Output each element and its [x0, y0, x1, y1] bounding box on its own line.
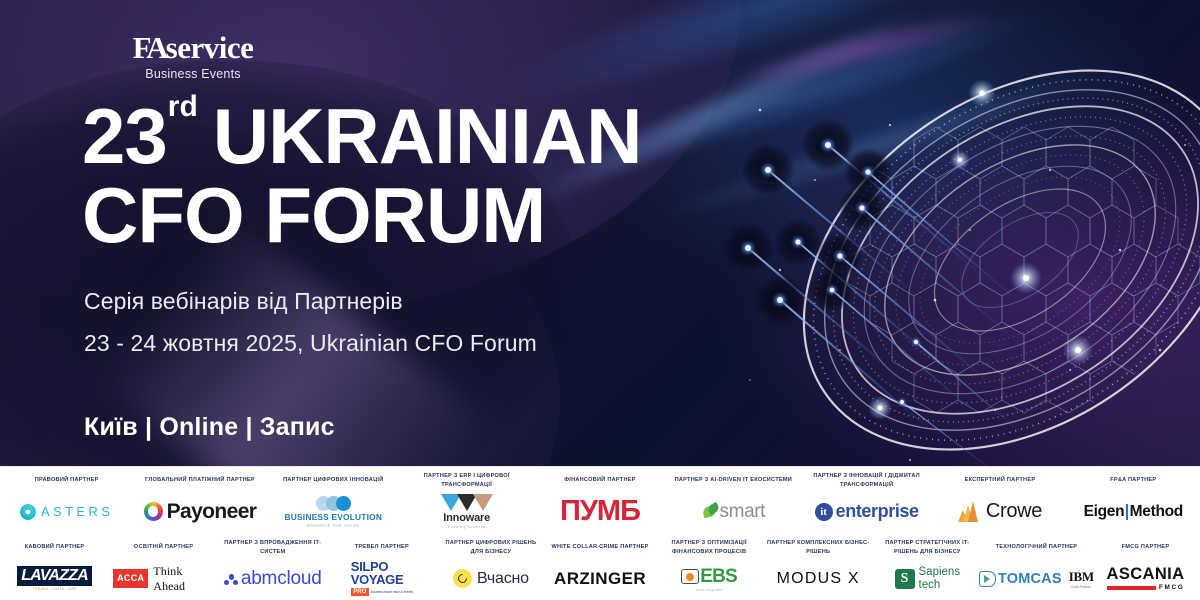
sapiens-s-icon: S: [895, 569, 915, 589]
hero-title-line1: 23rdUKRAINIAN: [82, 98, 641, 174]
payoneer-logo: Payoneer: [133, 489, 266, 534]
partners-section: ПРАВОВИЙ ПАРТНЕР ASTERS ГЛОБАЛЬНИЙ ПЛАТІ…: [0, 466, 1200, 600]
ascania-wordmark: ASCANIA: [1107, 566, 1185, 583]
partner-tomcas-ibm[interactable]: ТЕХНОЛОГІЧНИЙ ПАРТНЕР TOMCAS IBM Gold Pa…: [982, 534, 1091, 600]
partner-lavazza[interactable]: КАВОВИЙ ПАРТНЕР LAVAZZA TORINO, ITALIA, …: [0, 534, 109, 600]
partner-payoneer[interactable]: ГЛОБАЛЬНИЙ ПЛАТІЖНИЙ ПАРТНЕР Payoneer: [133, 467, 266, 534]
innoware-wordmark: Innoware: [443, 512, 490, 524]
partner-vchasno[interactable]: ПАРТНЕР ЦИФРОВИХ РІШЕНЬ ДЛЯ БІЗНЕСУ Вчас…: [436, 534, 545, 600]
partner-label: ФІНАНСОВИЙ ПАРТНЕР: [562, 472, 637, 489]
arzinger-wordmark: ARZINGER: [554, 569, 646, 589]
vchasno-wordmark: Вчасно: [477, 570, 529, 588]
hero-dateline: 23 - 24 жовтня 2025, Ukrainian CFO Forum: [84, 330, 537, 357]
partner-label: КАВОВИЙ ПАРТНЕР: [23, 539, 87, 556]
smart-leaf-icon: [702, 504, 719, 519]
partner-label: ПАРТНЕР З AI-DRIVEN IT ЕКОСИСТЕМИ: [673, 472, 794, 489]
partner-abmcloud[interactable]: ПАРТНЕР З ВПРОВАДЖЕННЯ ІТ-СИСТЕМ abmclou…: [218, 534, 327, 600]
tomcas-wordmark: TOMCAS: [998, 571, 1062, 587]
modus-x-logo: MODUS X: [764, 556, 873, 600]
sapiens-wordmark-b: tech: [919, 579, 961, 591]
partner-eigenmethod[interactable]: FP&A ПАРТНЕР Eigen Method: [1067, 467, 1200, 534]
it-enterprise-badge-icon: it: [815, 503, 833, 521]
brand-logo-name: FAservice: [78, 32, 308, 63]
hero-subtitle: Серія вебінарів від Партнерів: [84, 288, 403, 315]
ebs-eye-icon: [681, 569, 699, 584]
partner-label: ПАРТНЕР З ERP І ЦИФРОВОЇ ТРАНСФОРМАЦІЇ: [400, 472, 533, 489]
it-enterprise-logo: it enterprise: [800, 489, 933, 534]
partner-label: ТЕХНОЛОГІЧНИЙ ПАРТНЕР: [994, 539, 1080, 556]
brand-logo-fa: FA: [133, 30, 166, 65]
partner-label: ПАРТНЕР СТРАТЕГІЧНИХ IT-РІШЕНЬ ДЛЯ БІЗНЕ…: [873, 539, 982, 556]
partner-asters[interactable]: ПРАВОВИЙ ПАРТНЕР ASTERS: [0, 467, 133, 534]
crowe-peaks-icon: [958, 501, 982, 522]
hero-title-block: 23rdUKRAINIAN CFO FORUM: [82, 98, 641, 256]
hero-title-line2: CFO FORUM: [82, 176, 641, 256]
lavazza-wordmark: LAVAZZA: [17, 566, 92, 586]
partner-label: ПАРТНЕР ЦИФРОВИХ ІННОВАЦІЙ: [281, 472, 385, 489]
ebs-wordmark: EBS: [700, 566, 737, 588]
ebs-logo: EBS focus on growth: [655, 556, 764, 600]
partner-label: ПАРТНЕР З ОПТИМІЗАЦІЇ ФІНАНСОВИХ ПРОЦЕСІ…: [655, 539, 764, 556]
ascania-fmcg-label: FMCG: [1159, 584, 1185, 591]
partner-sapiens-tech[interactable]: ПАРТНЕР СТРАТЕГІЧНИХ IT-РІШЕНЬ ДЛЯ БІЗНЕ…: [873, 534, 982, 600]
pumb-logo: ПУМБ: [533, 489, 666, 534]
silpo-voyage-logo: SILPO VOYAGE PRO business travel mice & …: [327, 556, 436, 600]
eigenmethod-wordmark-b: Method: [1130, 503, 1183, 521]
partner-arzinger[interactable]: WHITE COLLAR CRIME ПАРТНЕР ARZINGER: [545, 534, 654, 600]
eigenmethod-logo: Eigen Method: [1067, 489, 1200, 534]
business-evolution-logo: BUSINESS EVOLUTION ENHANCE THE VALUE: [267, 489, 400, 534]
partners-row-2: КАВОВИЙ ПАРТНЕР LAVAZZA TORINO, ITALIA, …: [0, 534, 1200, 600]
asters-swirl-icon: [20, 504, 36, 520]
partner-crowe[interactable]: ЕКСПЕРТНИЙ ПАРТНЕР Crowe: [933, 467, 1066, 534]
tomcas-ibm-logo: TOMCAS IBM Gold Partner: [982, 556, 1091, 600]
acca-logo: ACCA Think Ahead: [109, 556, 218, 600]
silpo-wordmark-b: VOYAGE: [351, 574, 404, 586]
sapiens-wordmark-a: Sapiens: [919, 566, 961, 578]
partner-label: FP&A ПАРТНЕР: [1108, 472, 1158, 489]
smart-logo: smart: [667, 489, 800, 534]
innoware-tagline: Powering Business: [448, 525, 485, 529]
asters-wordmark: ASTERS: [41, 504, 113, 519]
partner-label: ГЛОБАЛЬНИЙ ПЛАТІЖНИЙ ПАРТНЕР: [143, 472, 257, 489]
abmcloud-wordmark: abmcloud: [241, 568, 322, 590]
acca-wordmark: ACCA: [113, 569, 148, 588]
partner-modus-x[interactable]: ПАРТНЕР КОМПЛЕКСНИХ БІЗНЕС-РІШЕНЬ MODUS …: [764, 534, 873, 600]
eigenmethod-divider-icon: [1126, 504, 1128, 520]
partner-label: FMCG ПАРТНЕР: [1120, 539, 1172, 556]
acca-tagline: Think Ahead: [153, 564, 214, 594]
partner-ebs[interactable]: ПАРТНЕР З ОПТИМІЗАЦІЇ ФІНАНСОВИХ ПРОЦЕСІ…: [655, 534, 764, 600]
crowe-wordmark: Crowe: [986, 500, 1042, 523]
ebs-tagline: focus on growth: [696, 588, 723, 592]
partner-ascania[interactable]: FMCG ПАРТНЕР ASCANIA FMCG: [1091, 534, 1200, 600]
event-banner: FAservice Business Events 23rdUKRAINIAN …: [0, 0, 1200, 600]
partner-silpo-voyage[interactable]: ТРЕВЕЛ ПАРТНЕР SILPO VOYAGE PRO business…: [327, 534, 436, 600]
partner-it-enterprise[interactable]: ПАРТНЕР З ІННОВАЦІЙ І ДІДЖИТАЛ ТРАНСФОРМ…: [800, 467, 933, 534]
smart-wordmark: smart: [720, 501, 766, 523]
partner-label: ПАРТНЕР З ВПРОВАДЖЕННЯ ІТ-СИСТЕМ: [218, 539, 327, 556]
brand-logo: FAservice Business Events: [78, 32, 308, 81]
partner-label: ЕКСПЕРТНИЙ ПАРТНЕР: [963, 472, 1038, 489]
galaxy-orbital-graphic: [720, 50, 1200, 466]
partner-label: ПАРТНЕР ЦИФРОВИХ РІШЕНЬ ДЛЯ БІЗНЕСУ: [436, 539, 545, 556]
crowe-logo: Crowe: [933, 489, 1066, 534]
business-evolution-wordmark: BUSINESS EVOLUTION: [285, 512, 383, 522]
vchasno-logo: Вчасно: [436, 556, 545, 600]
lavazza-logo: LAVAZZA TORINO, ITALIA, 1895: [0, 556, 109, 600]
vchasno-check-icon: [453, 569, 472, 588]
ibm-partner-level: Gold Partner: [1071, 585, 1091, 589]
partner-smart[interactable]: ПАРТНЕР З AI-DRIVEN IT ЕКОСИСТЕМИ smart: [667, 467, 800, 534]
sapiens-tech-logo: S Sapiens tech: [873, 556, 982, 600]
brand-tagline: Business Events: [78, 67, 308, 81]
asters-logo: ASTERS: [0, 489, 133, 534]
partner-label: WHITE COLLAR CRIME ПАРТНЕР: [549, 539, 650, 556]
pumb-wordmark: ПУМБ: [560, 497, 640, 526]
partner-acca[interactable]: ОСВІТНІЙ ПАРТНЕР ACCA Think Ahead: [109, 534, 218, 600]
payoneer-wordmark: Payoneer: [167, 500, 257, 524]
hero-format-line: Київ | Online | Запис: [84, 413, 335, 442]
partner-label: ОСВІТНІЙ ПАРТНЕР: [132, 539, 195, 556]
edition-ordinal-suffix: rd: [168, 90, 198, 123]
innoware-triangles-icon: [441, 494, 493, 511]
partners-row-1: ПРАВОВИЙ ПАРТНЕР ASTERS ГЛОБАЛЬНИЙ ПЛАТІ…: [0, 467, 1200, 534]
arzinger-logo: ARZINGER: [545, 556, 654, 600]
partner-pumb[interactable]: ФІНАНСОВИЙ ПАРТНЕР ПУМБ: [533, 467, 666, 534]
partner-label: ПАРТНЕР КОМПЛЕКСНИХ БІЗНЕС-РІШЕНЬ: [764, 539, 873, 556]
modus-x-wordmark: MODUS X: [777, 570, 860, 588]
ascania-red-bar-icon: [1107, 586, 1156, 590]
abmcloud-logo: abmcloud: [218, 556, 327, 600]
abmcloud-dots-icon: [224, 571, 239, 586]
business-evolution-tagline: ENHANCE THE VALUE: [307, 523, 360, 528]
partner-business-evolution[interactable]: ПАРТНЕР ЦИФРОВИХ ІННОВАЦІЙ BUSINESS EVOL…: [267, 467, 400, 534]
tomcas-play-icon: [979, 571, 996, 587]
partner-label: ТРЕВЕЛ ПАРТНЕР: [353, 539, 411, 556]
ascania-logo: ASCANIA FMCG: [1091, 556, 1200, 600]
partner-label: ПАРТНЕР З ІННОВАЦІЙ І ДІДЖИТАЛ ТРАНСФОРМ…: [800, 472, 933, 489]
edition-number: 23: [82, 92, 167, 180]
hero-section: FAservice Business Events 23rdUKRAINIAN …: [0, 0, 1200, 466]
lavazza-tagline: TORINO, ITALIA, 1895: [32, 587, 77, 591]
business-evolution-dots-icon: [316, 496, 351, 511]
partner-innoware[interactable]: ПАРТНЕР З ERP І ЦИФРОВОЇ ТРАНСФОРМАЦІЇ I…: [400, 467, 533, 534]
hero-title-word-ukrainian: UKRAINIAN: [213, 92, 642, 180]
partner-label: ПРАВОВИЙ ПАРТНЕР: [33, 472, 101, 489]
silpo-tagline: business travel mice & events: [371, 590, 413, 594]
innoware-logo: Innoware Powering Business: [400, 489, 533, 534]
silpo-pro-badge: PRO: [351, 588, 369, 596]
brand-logo-service: service: [166, 30, 254, 65]
payoneer-ring-icon: [144, 502, 163, 521]
it-enterprise-wordmark: enterprise: [836, 501, 919, 522]
eigenmethod-wordmark-a: Eigen: [1084, 503, 1125, 521]
